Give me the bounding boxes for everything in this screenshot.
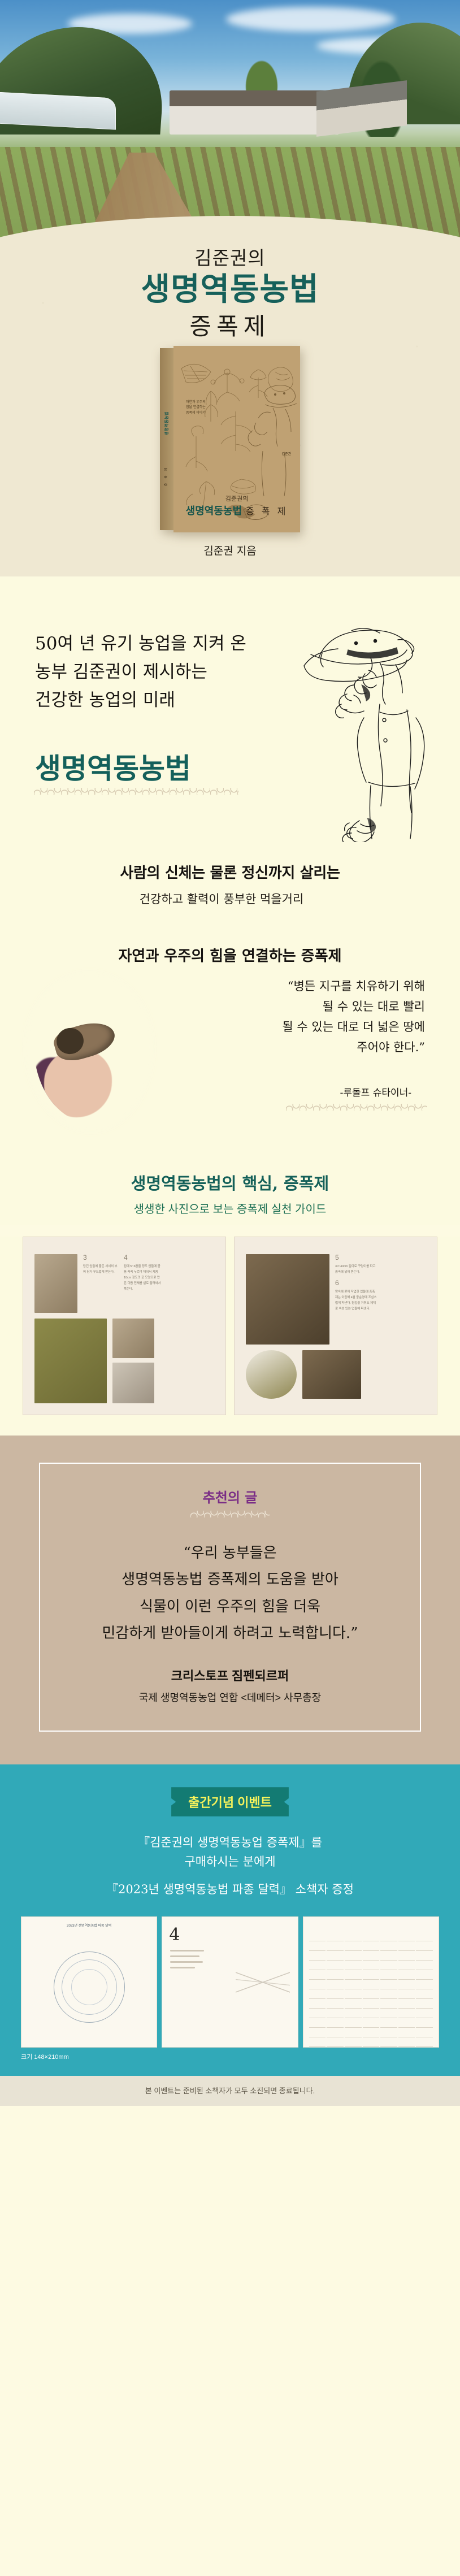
wavy-divider-2 [286,1104,427,1111]
steiner-quote: “병든 지구를 치유하기 위해 될 수 있는 대로 빨리 될 수 있는 대로 더… [282,976,425,1057]
crystal-illustration-icon [236,1949,290,2016]
quote-attribution: -루돌프 슈타이너- [340,1085,411,1099]
food-message-line-2: 건강하고 활력이 풍부한 먹을거리 [0,890,460,907]
farmer-illustration-icon [285,599,454,842]
core-guide-section: 생명역동농법의 핵심, 증폭제 생생한 사진으로 보는 증폭제 실천 가이드 [0,1158,460,1225]
food-message-line-1: 사람의 신체는 물론 정신까지 살리는 [0,861,460,882]
gift-preview-images: 2023년 생명역동농법 파종 달력 4 [21,1916,439,2048]
quote-line-2: 될 수 있는 대로 빨리 [282,996,425,1017]
spread-step: 3 담긴 업들에 물은 서서히 부어 담가 부드럽게 만든다. [83,1254,118,1313]
gift-size-caption: 크기 148×210mm [21,2052,439,2061]
recommendation-line-2: 생명역동농법 증폭제의 도움을 받아 [51,1567,409,1593]
event-section: 출간기념 이벤트 『김준권의 생명역동농업 증폭제』를 구매하시는 분에게 『2… [0,1764,460,2076]
chapter-number: 4 [169,1925,180,1945]
quote-line-3: 될 수 있는 대로 더 넓은 땅에 [282,1017,425,1037]
core-guide-title: 생명역동농법의 핵심, 증폭제 [0,1170,460,1194]
food-message-section: 사람의 신체는 물론 정신까지 살리는 건강하고 활력이 풍부한 먹을거리 [0,842,460,915]
hero-section: 김준권의 생명역동농법 증폭제 생명역동농법 증 폭 제 [0,0,460,576]
steiner-quote-section: 자연과 우주의 힘을 연결하는 증폭제 “병든 지구를 치유하기 위해 될 수 … [0,915,460,1158]
footer-note: 본 이벤트는 준비된 소책자가 모두 소진되면 종료됩니다. [0,2076,460,2106]
calendar-grid [309,1933,433,2039]
spread-page-right: 5 30~40cm 깊이로 구덩이를 파고 흙속에 넣어 묻는다. 6 땅속에 … [234,1237,437,1415]
recommendation-line-4: 민감하게 받아들이게 하려고 노력합니다.” [51,1620,409,1647]
quote-line-4: 주어야 한다.” [282,1037,425,1057]
book-cover-kicker: 김준권의 [173,494,300,503]
step-text: 담긴 업들에 물은 서서히 부어 담가 부드럽게 만든다. [83,1264,118,1275]
zodiac-page-title: 2023년 생명역동농법 파종 달력 [21,1923,157,1928]
recommender-role: 국제 생명역동농업 연합 <데메터> 사무총장 [51,1690,409,1705]
hero-title-group: 김준권의 생명역동농법 증폭제 [0,243,460,342]
book-spine-title: 생명역동농법 [164,389,170,457]
hero-title: 생명역동농법 [0,272,460,306]
hero-kicker: 김준권의 [0,243,460,270]
wavy-divider-3 [190,1511,270,1517]
book-cover-image: 생명역동농법 증 폭 제 [0,346,460,532]
book-spine: 생명역동농법 증 폭 제 [160,348,173,530]
intro-line-1: 50여 년 유기 농업을 지켜 온 [35,630,246,658]
step-text: 컵에 5~6움을 정도 업들에 붙음 꼭꼭 누르며 채워서 지름 10cm 정도… [124,1264,161,1292]
zodiac-wheel-icon [54,1951,125,2023]
soil-horn-photo [34,981,145,1123]
gift-page-calendar [303,1916,439,2048]
intro-lines: 50여 년 유기 농업을 지켜 온 농부 김준권이 제시하는 건강한 농업의 미… [35,630,246,715]
author-byline-text: 김준권 지음 [203,545,256,557]
book-cover-title: 생명역동농법 [186,503,242,518]
core-guide-subtitle: 생생한 사진으로 보는 증폭제 실천 가이드 [0,1200,460,1216]
step-number: 4 [124,1254,161,1261]
quote-section-title: 자연과 우주의 힘을 연결하는 증폭제 [0,944,460,965]
wavy-divider [34,788,238,795]
recommender-name: 크리스토프 짐펜되르퍼 [51,1666,409,1684]
step-text: 30~40cm 깊이로 구덩이를 파고 흙속에 넣어 묻는다. [335,1264,377,1275]
event-line-3: 『2023년 생명역동농법 파종 달력』 소책자 증정 [0,1880,460,1900]
book-spine-subtitle: 증 폭 제 [163,448,168,505]
recommendation-section: 추천의 글 “우리 농부들은 생명역동농법 증폭제의 도움을 받아 식물이 이런… [0,1436,460,1764]
step-number: 5 [335,1254,377,1261]
recommendation-quote: “우리 농부들은 생명역동농법 증폭제의 도움을 받아 식물이 이런 우주의 힘… [51,1540,409,1647]
intro-line-2: 농부 김준권이 제시하는 [35,658,246,686]
intro-line-3: 건강한 농업의 미래 [35,686,246,714]
book-cover-small-text: 자연과 우주의힘을 연결하는증폭제 이야기 [186,400,206,416]
spread-page-left: 3 담긴 업들에 물은 서서히 부어 담가 부드럽게 만든다. 4 컵에 5~6… [23,1237,226,1415]
promo-page: 김준권의 생명역동농법 증폭제 생명역동농법 증 폭 제 [0,0,460,2106]
book-spread-section: 3 담긴 업들에 물은 서서히 부어 담가 부드럽게 만든다. 4 컵에 5~6… [0,1237,460,1436]
intro-highlight: 생명역동농법 [35,746,191,787]
step-text: 땅속에 묻어 작업한 업들에 증폭제는 이듬해 4월 중순경에 조심스럽게 파낸… [335,1289,377,1312]
event-line-1: 『김준권의 생명역동농업 증폭제』를 [0,1833,460,1853]
quote-line-1: “병든 지구를 치유하기 위해 [282,976,425,996]
event-line-2: 구매하시는 분에게 [0,1853,460,1872]
step-number: 6 [335,1280,377,1287]
book-cover-author: 김준권 [281,451,291,456]
gift-page-zodiac: 2023년 생명역동농법 파종 달력 [21,1916,157,2048]
gift-page-chapter: 4 [162,1916,298,2048]
book-front-face: 자연과 우주의힘을 연결하는증폭제 이야기 김준권 김준권의 생명역동농법증 폭… [173,346,300,532]
footer-note-text: 본 이벤트는 준비된 소책자가 모두 소진되면 종료됩니다. [145,2087,315,2095]
author-byline: 김준권 지음 [0,543,460,558]
intro-section: 50여 년 유기 농업을 지켜 온 농부 김준권이 제시하는 건강한 농업의 미… [0,576,460,842]
event-badge: 출간기념 이벤트 [171,1787,289,1816]
hero-subtitle: 증폭제 [0,307,460,342]
spread-step: 4 컵에 5~6움을 정도 업들에 붙음 꼭꼭 누르며 채워서 지름 10cm … [124,1254,161,1313]
recommendation-label: 추천의 글 [51,1486,409,1506]
recommendation-line-1: “우리 농부들은 [51,1540,409,1567]
step-number: 3 [83,1254,118,1261]
recommendation-line-3: 식물이 이런 우주의 힘을 더욱 [51,1594,409,1620]
book-cover-subtitle: 증 폭 제 [246,504,288,517]
